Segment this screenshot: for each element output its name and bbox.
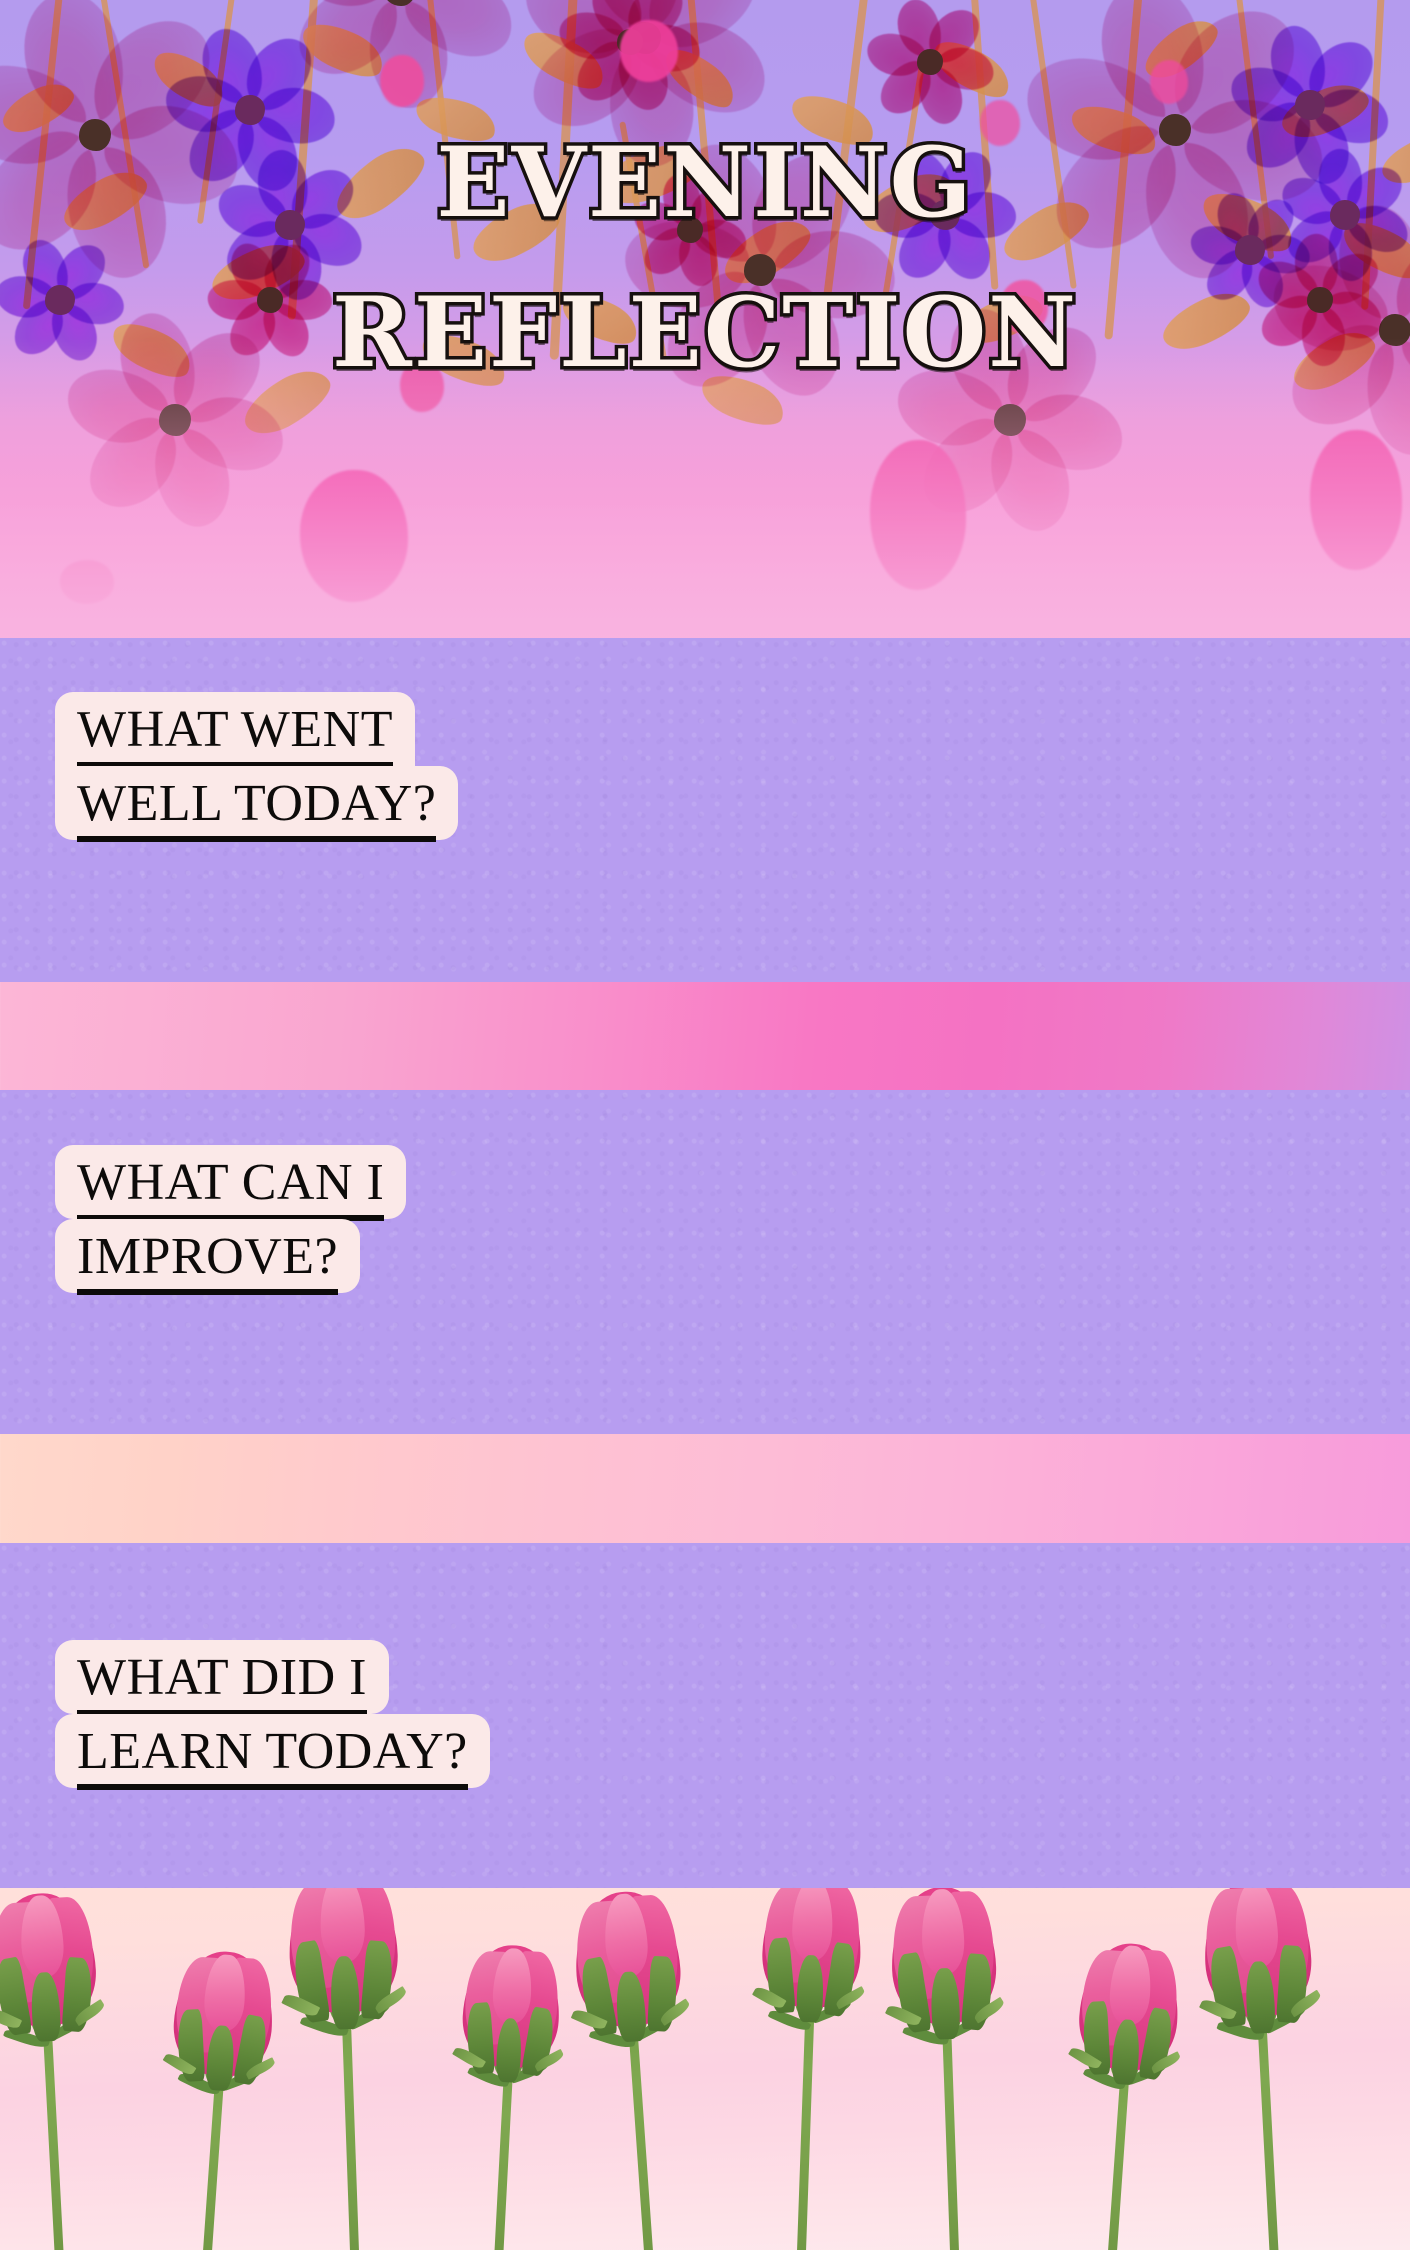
magenta-flower-1-center <box>917 49 943 75</box>
rose-petal-center <box>792 1888 834 1961</box>
divider-pink-1 <box>0 982 1410 1090</box>
rose-bud <box>889 1890 1006 2250</box>
rose-bud-head <box>1201 1888 1314 2020</box>
rose-bud-head <box>571 1888 684 2029</box>
rose-bud <box>1061 1945 1182 2250</box>
watercolor-blob-1 <box>380 55 424 107</box>
question-line-2: WELL TODAY? <box>55 766 458 840</box>
rose-bud <box>287 1888 409 2250</box>
rose-bud <box>449 1948 562 2250</box>
rose-bud <box>156 1953 276 2250</box>
rose-sepal-center <box>796 1955 824 2023</box>
rose-bud <box>571 1893 702 2250</box>
rose-bud-head <box>889 1888 998 2025</box>
rose-bud-head <box>170 1948 276 2079</box>
rose-bud-head <box>761 1888 863 2009</box>
question-line-2: LEARN TODAY? <box>55 1714 490 1788</box>
watercolor-blob-7 <box>1150 60 1188 104</box>
question-label-went-well: WHAT WENT WELL TODAY? <box>55 692 458 840</box>
rose-bud <box>1201 1888 1328 2250</box>
question-line-2: IMPROVE? <box>55 1219 360 1293</box>
divider-pink-2 <box>0 1434 1410 1543</box>
question-line-1: WHAT WENT <box>55 692 415 766</box>
footer-rose-border <box>0 1888 1410 2250</box>
question-label-improve: WHAT CAN I IMPROVE? <box>55 1145 406 1293</box>
rose-bud-head <box>0 1891 99 2028</box>
watercolor-blob-0 <box>620 20 678 82</box>
page-title: EVENING REFLECTION <box>0 108 1410 408</box>
rose-bud-head <box>287 1888 400 2014</box>
rose-bud-head <box>1076 1940 1183 2073</box>
rose-bud-head <box>460 1943 562 2070</box>
question-line-1: WHAT DID I <box>55 1640 389 1714</box>
question-label-learn: WHAT DID I LEARN TODAY? <box>55 1640 490 1788</box>
header-floral-banner: EVENING REFLECTION <box>0 0 1410 638</box>
page-title-line-2: REFLECTION <box>0 258 1410 408</box>
question-line-1: WHAT CAN I <box>55 1145 406 1219</box>
evening-reflection-journal-page: EVENING REFLECTION WHAT WENT WELL TODAY?… <box>0 0 1410 2250</box>
rose-bud <box>751 1888 863 2250</box>
rose-bud <box>0 1896 112 2250</box>
rose-petal-center <box>319 1888 365 1963</box>
page-title-line-1: EVENING <box>0 108 1410 258</box>
